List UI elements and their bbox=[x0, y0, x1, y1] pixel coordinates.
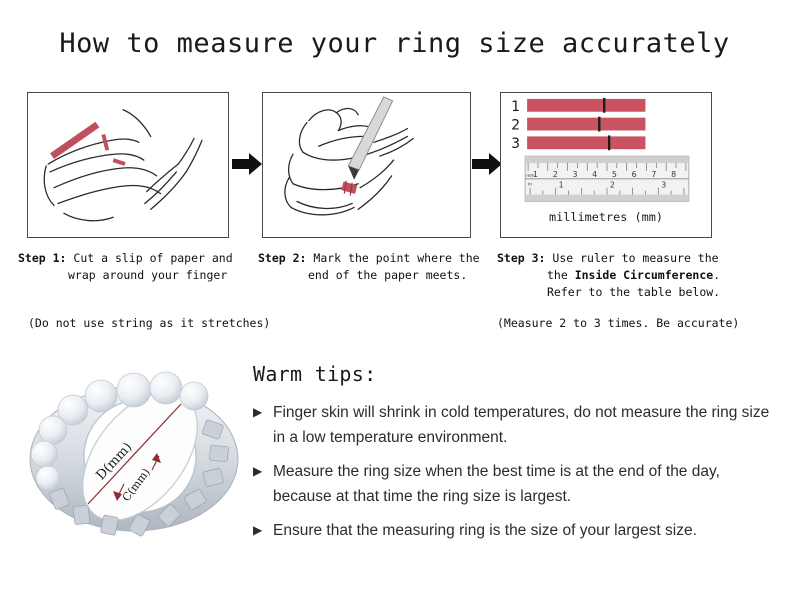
svg-text:2: 2 bbox=[553, 170, 558, 179]
svg-text:in: in bbox=[528, 182, 532, 188]
svg-text:6: 6 bbox=[632, 170, 637, 179]
svg-text:3: 3 bbox=[572, 170, 577, 179]
step-3-inside-circumference: Inside Circumference bbox=[575, 268, 713, 282]
bullet-triangle-icon: ▶ bbox=[253, 459, 262, 484]
step-3-line3: Refer to the table below. bbox=[497, 284, 747, 301]
bullet-triangle-icon: ▶ bbox=[253, 400, 262, 425]
step-3-line1: Use ruler to measure the bbox=[552, 251, 718, 265]
svg-text:1: 1 bbox=[559, 181, 564, 190]
arrow-right-icon-2 bbox=[472, 150, 502, 178]
steps-row: 1 2 3 bbox=[0, 92, 789, 240]
step-2-line2: end of the paper meets. bbox=[258, 267, 498, 284]
arrow-right-icon-1 bbox=[232, 150, 262, 178]
step-3-note: (Measure 2 to 3 times. Be accurate) bbox=[497, 315, 739, 331]
step-1-note: (Do not use string as it stretches) bbox=[28, 315, 270, 331]
step-1-label: Step 1: bbox=[18, 251, 66, 265]
tip-text: Finger skin will shrink in cold temperat… bbox=[273, 404, 769, 446]
svg-text:mm: mm bbox=[526, 174, 535, 179]
list-item: ▶ Finger skin will shrink in cold temper… bbox=[253, 400, 773, 450]
warm-tips-heading: Warm tips: bbox=[253, 362, 773, 386]
step-3-line2: the Inside Circumference. bbox=[497, 267, 747, 284]
svg-text:3: 3 bbox=[661, 181, 666, 190]
tip-text: Measure the ring size when the best time… bbox=[273, 463, 720, 505]
ruler-unit-caption: millimetres (mm) bbox=[549, 210, 663, 224]
strip-label-1: 1 bbox=[511, 99, 520, 115]
step-3-illustration-panel: 1 2 3 bbox=[500, 92, 712, 238]
step-1-caption: Step 1: Cut a slip of paper and wrap aro… bbox=[18, 250, 258, 284]
bullet-triangle-icon: ▶ bbox=[253, 518, 262, 543]
step-2-label: Step 2: bbox=[258, 251, 306, 265]
step-3-caption: Step 3: Use ruler to measure the the Ins… bbox=[497, 250, 747, 301]
warm-tips-section: Warm tips: ▶ Finger skin will shrink in … bbox=[253, 362, 773, 552]
step-1-line1: Cut a slip of paper and bbox=[73, 251, 232, 265]
ring-photo-illustration: D(mm) C(mm) bbox=[18, 352, 250, 566]
step-2-illustration-panel bbox=[262, 92, 471, 238]
step-2-caption: Step 2: Mark the point where the end of … bbox=[258, 250, 498, 284]
step-3-label: Step 3: bbox=[497, 251, 545, 265]
svg-text:4: 4 bbox=[592, 170, 597, 179]
step-3-line2-suffix: . bbox=[713, 268, 720, 282]
step-1-illustration-panel bbox=[27, 92, 229, 238]
tip-text: Ensure that the measuring ring is the si… bbox=[273, 522, 697, 539]
hand-with-paper-strip-icon bbox=[28, 93, 228, 237]
strip-label-3: 3 bbox=[511, 136, 520, 152]
list-item: ▶ Ensure that the measuring ring is the … bbox=[253, 518, 773, 543]
svg-text:2: 2 bbox=[610, 181, 615, 190]
strips-with-ruler-icon: 1 2 3 bbox=[501, 93, 711, 237]
svg-text:8: 8 bbox=[671, 170, 676, 179]
page-title: How to measure your ring size accurately bbox=[0, 28, 789, 59]
svg-text:5: 5 bbox=[612, 170, 617, 179]
ring-diagram: D(mm) C(mm) bbox=[18, 352, 250, 566]
svg-text:7: 7 bbox=[651, 170, 656, 179]
strip-label-2: 2 bbox=[511, 117, 520, 133]
list-item: ▶ Measure the ring size when the best ti… bbox=[253, 459, 773, 509]
hand-marking-with-pen-icon bbox=[263, 93, 470, 237]
step-1-line2: wrap around your finger bbox=[18, 267, 258, 284]
step-3-line2-prefix: the bbox=[547, 268, 575, 282]
step-2-line1: Mark the point where the bbox=[313, 251, 479, 265]
